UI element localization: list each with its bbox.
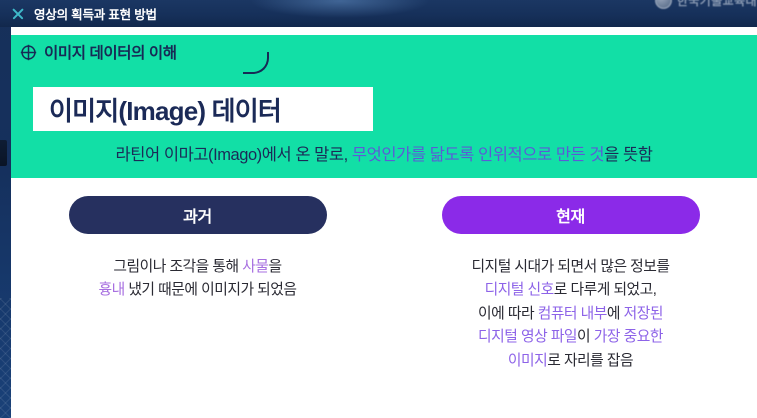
brand-logo: 한국기술교육대	[655, 0, 757, 9]
lecture-title: 영상의 획득과 표현 방법	[34, 4, 157, 23]
body-line: 이미지로 자리를 잡음	[471, 350, 669, 373]
section-tab-label: 이미지 데이터의 이해	[44, 41, 177, 63]
body-segment-2-0: 이에 따라	[478, 306, 538, 322]
rail-diagonal-pattern	[0, 298, 11, 418]
tab-swoosh-decoration	[243, 52, 269, 74]
pill-past[interactable]: 과거	[69, 196, 327, 234]
body-text-present: 디지털 시대가 되면서 많은 정보를디지털 신호로 다루게 되었고,이에 따라 …	[471, 256, 669, 373]
header-glow	[250, 0, 430, 18]
body-segment-0-0: 그림이나 조각을 통해	[113, 259, 242, 275]
body-line: 그림이나 조각을 통해 사물을	[98, 256, 296, 279]
body-line: 디지털 영상 파일이 가장 중요한	[471, 326, 669, 349]
body-segment-1-1: 냈기 때문에 이미지가 되었음	[125, 282, 297, 298]
title-plate: 이미지(Image) 데이터	[33, 87, 373, 131]
body-segment-1-1: 로 다루게 되었고,	[554, 282, 657, 298]
left-rail	[0, 0, 11, 418]
body-segment-0-2: 을	[268, 259, 281, 275]
body-line: 흉내 냈기 때문에 이미지가 되었음	[98, 279, 296, 302]
body-line: 디지털 신호로 다루게 되었고,	[471, 279, 669, 302]
hero-subtitle: 라틴어 이마고(Imago)에서 온 말로, 무엇인가를 닮도록 인위적으로 만…	[11, 141, 757, 165]
body-segment-0-1: 사물	[242, 259, 268, 275]
column-past: 과거 그림이나 조각을 통해 사물을흉내 냈기 때문에 이미지가 되었음	[11, 196, 384, 408]
close-x-icon[interactable]	[10, 6, 26, 22]
slide-canvas: 영상의 획득과 표현 방법 한국기술교육대 이미지 데이터의 이해 이미지(Im…	[0, 0, 757, 418]
body-segment-3-0: 디지털 영상 파일	[478, 329, 577, 345]
body-segment-1-0: 흉내	[98, 282, 124, 298]
subtitle-segment-1: 무엇인가를 닮도록 인위적으로 만든 것	[352, 146, 604, 164]
comparison-columns: 과거 그림이나 조각을 통해 사물을흉내 냈기 때문에 이미지가 되었음 현재 …	[11, 196, 757, 408]
body-segment-2-3: 저장된	[624, 306, 663, 322]
brand-name: 한국기술교육대	[677, 0, 757, 9]
body-segment-3-2: 가장 중요한	[594, 329, 663, 345]
body-segment-1-0: 디지털 신호	[485, 282, 554, 298]
body-segment-0-0: 디지털 시대가 되면서 많은 정보를	[471, 259, 669, 275]
body-line: 디지털 시대가 되면서 많은 정보를	[471, 256, 669, 279]
subtitle-segment-0: 라틴어 이마고(Imago)에서 온 말로,	[116, 146, 352, 164]
body-segment-4-0: 이미지	[508, 353, 547, 369]
column-present: 현재 디지털 시대가 되면서 많은 정보를디지털 신호로 다루게 되었고,이에 …	[384, 196, 757, 408]
rail-nub	[0, 140, 7, 166]
subtitle-segment-2: 을 뜻함	[604, 146, 652, 164]
body-line: 이에 따라 컴퓨터 내부에 저장된	[471, 303, 669, 326]
body-text-past: 그림이나 조각을 통해 사물을흉내 냈기 때문에 이미지가 되었음	[98, 256, 296, 303]
body-segment-4-1: 로 자리를 잡음	[547, 353, 633, 369]
body-segment-2-2: 에	[607, 306, 624, 322]
hero-green-band: 이미지 데이터의 이해 이미지(Image) 데이터 라틴어 이마고(Imago…	[11, 35, 757, 178]
top-header-bar: 영상의 획득과 표현 방법 한국기술교육대	[0, 0, 757, 27]
body-segment-3-1: 이	[577, 329, 594, 345]
body-segment-2-1: 컴퓨터 내부	[538, 306, 607, 322]
section-tab: 이미지 데이터의 이해	[20, 41, 177, 63]
crosshair-target-icon	[20, 44, 37, 61]
pill-present[interactable]: 현재	[442, 196, 700, 234]
page-title: 이미지(Image) 데이터	[33, 91, 281, 128]
brand-seal-icon	[655, 0, 672, 9]
